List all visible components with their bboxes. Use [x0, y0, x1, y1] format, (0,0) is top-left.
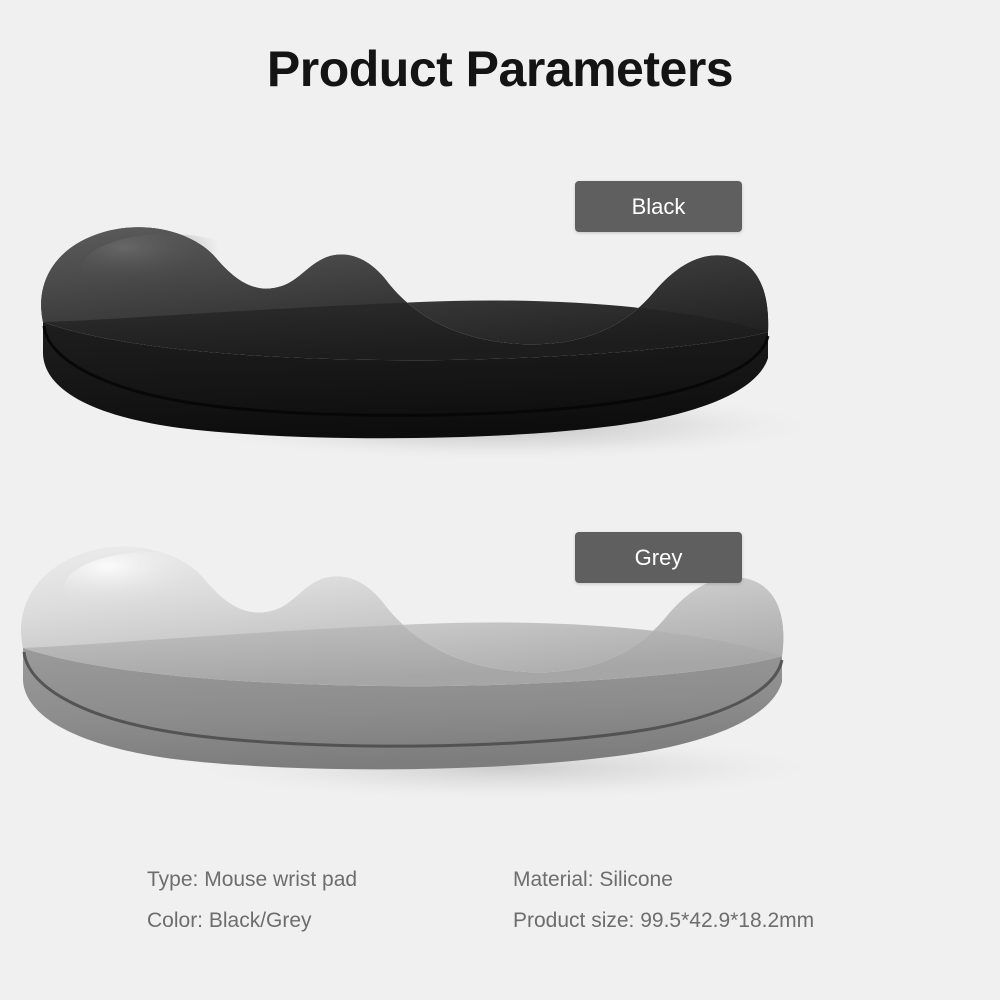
color-badge-black-label: Black — [632, 194, 686, 220]
product-image-grey — [0, 500, 1000, 800]
spec-material: Material: Silicone — [513, 860, 814, 901]
color-badge-grey[interactable]: Grey — [575, 532, 742, 583]
product-image-black — [0, 200, 1000, 490]
page-title: Product Parameters — [0, 42, 1000, 97]
specifications: Type: Mouse wrist pad Color: Black/Grey … — [0, 860, 1000, 960]
color-badge-grey-label: Grey — [635, 545, 683, 571]
product-parameters-page: Product Parameters — [0, 0, 1000, 1000]
black-pad-highlight — [82, 234, 254, 302]
spec-column-right: Material: Silicone Product size: 99.5*42… — [513, 860, 814, 942]
spec-color: Color: Black/Grey — [147, 901, 357, 942]
spec-type: Type: Mouse wrist pad — [147, 860, 357, 901]
spec-column-left: Type: Mouse wrist pad Color: Black/Grey — [147, 860, 357, 942]
spec-product-size: Product size: 99.5*42.9*18.2mm — [513, 901, 814, 942]
color-badge-black[interactable]: Black — [575, 181, 742, 232]
grey-pad-highlight — [64, 552, 240, 624]
